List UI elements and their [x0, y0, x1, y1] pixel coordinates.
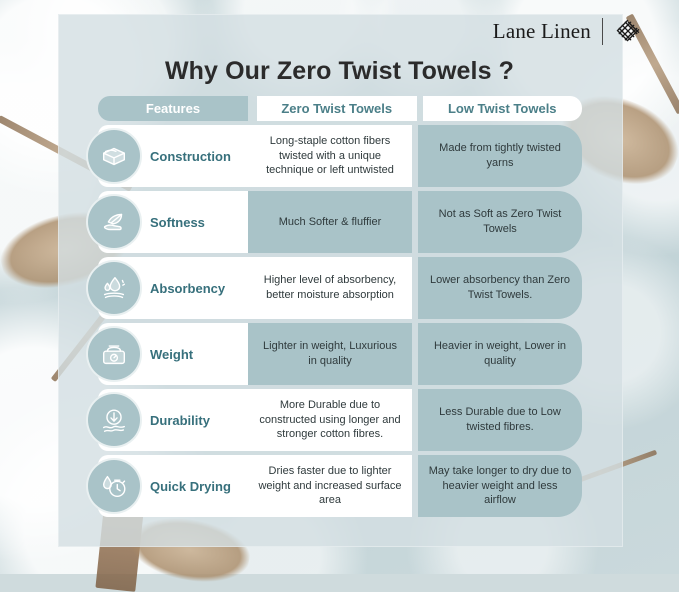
weighing-scale-icon: [86, 326, 142, 382]
zero-twist-cell: Dries faster due to lighter weight and i…: [248, 455, 412, 517]
feature-cell: Quick Drying: [98, 455, 248, 517]
droplet-stopwatch-icon: [86, 458, 142, 514]
table-row: Absorbency Higher level of absorbency, b…: [98, 257, 582, 319]
feature-label: Weight: [150, 347, 193, 362]
woven-lattice-logo-icon: [614, 17, 642, 45]
feature-cell: Softness: [98, 191, 248, 253]
logo-divider: [602, 18, 603, 45]
table-header-row: Features Zero Twist Towels Low Twist Tow…: [98, 96, 582, 121]
folded-towel-icon: [86, 128, 142, 184]
low-twist-cell: Not as Soft as Zero Twist Towels: [418, 191, 582, 253]
feature-label: Construction: [150, 149, 231, 164]
low-twist-cell: Less Durable due to Low twisted fibres.: [418, 389, 582, 451]
feature-label: Quick Drying: [150, 479, 231, 494]
feature-cell: Weight: [98, 323, 248, 385]
feature-cell: Durability: [98, 389, 248, 451]
low-twist-cell: Made from tightly twisted yarns: [418, 125, 582, 187]
down-arrow-wave-icon: [86, 392, 142, 448]
feature-label: Absorbency: [150, 281, 225, 296]
feature-cell: Absorbency: [98, 257, 248, 319]
feature-cell: Construction: [98, 125, 248, 187]
zero-twist-cell: Higher level of absorbency, better moist…: [248, 257, 412, 319]
brand-logo[interactable]: Lane Linen: [493, 17, 642, 45]
low-twist-cell: May take longer to dry due to heavier we…: [418, 455, 582, 517]
header-features: Features: [98, 96, 248, 121]
table-row: Durability More Durable due to construct…: [98, 389, 582, 451]
hand-feather-icon: [86, 194, 142, 250]
water-droplets-icon: [86, 260, 142, 316]
low-twist-cell: Heavier in weight, Lower in quality: [418, 323, 582, 385]
feature-label: Softness: [150, 215, 205, 230]
zero-twist-cell: Long-staple cotton fibers twisted with a…: [248, 125, 412, 187]
brand-name: Lane Linen: [493, 19, 591, 44]
table-row: Quick Drying Dries faster due to lighter…: [98, 455, 582, 517]
header-zero-twist-towels: Zero Twist Towels: [257, 96, 417, 121]
feature-label: Durability: [150, 413, 210, 428]
zero-twist-cell: Lighter in weight, Luxurious in quality: [248, 323, 412, 385]
table-row: Softness Much Softer & fluffier Not as S…: [98, 191, 582, 253]
header-low-twist-towels: Low Twist Towels: [423, 96, 583, 121]
table-row: Weight Lighter in weight, Luxurious in q…: [98, 323, 582, 385]
zero-twist-cell: More Durable due to constructed using lo…: [248, 389, 412, 451]
comparison-table: Features Zero Twist Towels Low Twist Tow…: [98, 96, 582, 521]
table-row: Construction Long-staple cotton fibers t…: [98, 125, 582, 187]
low-twist-cell: Lower absorbency than Zero Twist Towels.: [418, 257, 582, 319]
page-title: Why Our Zero Twist Towels ?: [0, 57, 679, 86]
zero-twist-cell: Much Softer & fluffier: [248, 191, 412, 253]
